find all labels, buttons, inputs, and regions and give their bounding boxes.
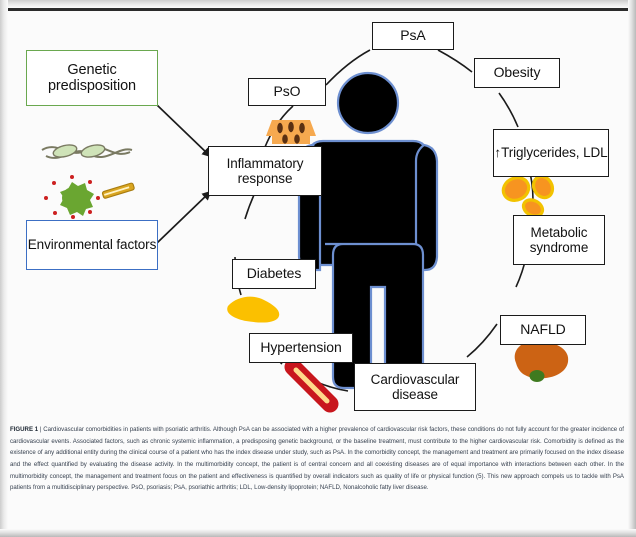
obesity-box[interactable]: Obesity (474, 58, 560, 88)
figure-diagram: Genetic predisposition Environmental fac… (10, 12, 626, 420)
figure-page: Genetic predisposition Environmental fac… (0, 0, 636, 537)
pso-label: PsO (274, 84, 301, 100)
page-shadow-left (0, 0, 8, 537)
environmental-factors-box[interactable]: Environmental factors (26, 220, 158, 270)
dna-helix-icon (42, 143, 132, 159)
metabolic-syndrome-label: Metabolic syndrome (514, 225, 604, 255)
caption-text: Cardiovascular comorbidities in patients… (10, 426, 624, 491)
genetic-predisposition-label: Genetic predisposition (27, 62, 157, 94)
hypertension-label: Hypertension (260, 340, 341, 356)
page-shadow-bottom (0, 529, 636, 537)
metabolic-syndrome-box[interactable]: Metabolic syndrome (513, 215, 605, 265)
page-shadow-right (628, 0, 636, 537)
obesity-label: Obesity (494, 65, 541, 81)
diabetes-box[interactable]: Diabetes (232, 259, 316, 289)
arrow-environmental-to-inflammatory (157, 192, 210, 243)
genetic-predisposition-box[interactable]: Genetic predisposition (26, 50, 158, 106)
page-top-rule (8, 8, 628, 11)
driver-arrows (157, 105, 210, 243)
diabetes-label: Diabetes (247, 266, 301, 282)
cardiovascular-disease-label: Cardiovascular disease (355, 372, 475, 402)
inflammatory-response-box[interactable]: Inflammatory response (208, 146, 322, 196)
psa-box[interactable]: PsA (372, 22, 454, 50)
page-shadow-top (0, 0, 636, 8)
figure-caption: FIGURE 1 | Cardiovascular comorbidities … (10, 424, 626, 494)
fatty-liver-icon (515, 340, 569, 382)
inflammatory-response-label: Inflammatory response (209, 156, 321, 186)
psoriasis-plaque-icon (266, 120, 316, 144)
virus-and-cigarette-icon (44, 175, 135, 219)
nafld-label: NAFLD (520, 322, 565, 338)
triglycerides-ldl-box[interactable]: ↑Triglycerides, LDL (493, 129, 609, 177)
nafld-box[interactable]: NAFLD (500, 315, 586, 345)
cardiovascular-disease-box[interactable]: Cardiovascular disease (354, 363, 476, 411)
psa-label: PsA (400, 28, 425, 44)
pso-box[interactable]: PsO (248, 78, 326, 106)
environmental-factors-label: Environmental factors (28, 237, 156, 252)
arrow-genetic-to-inflammatory (157, 105, 210, 156)
pancreas-icon (227, 297, 279, 323)
hypertension-box[interactable]: Hypertension (249, 333, 353, 363)
cigarette-icon (102, 183, 135, 199)
figure-label: FIGURE 1 (10, 426, 38, 433)
triglycerides-ldl-label: ↑Triglycerides, LDL (494, 145, 607, 160)
adipocytes-icon (500, 173, 557, 219)
